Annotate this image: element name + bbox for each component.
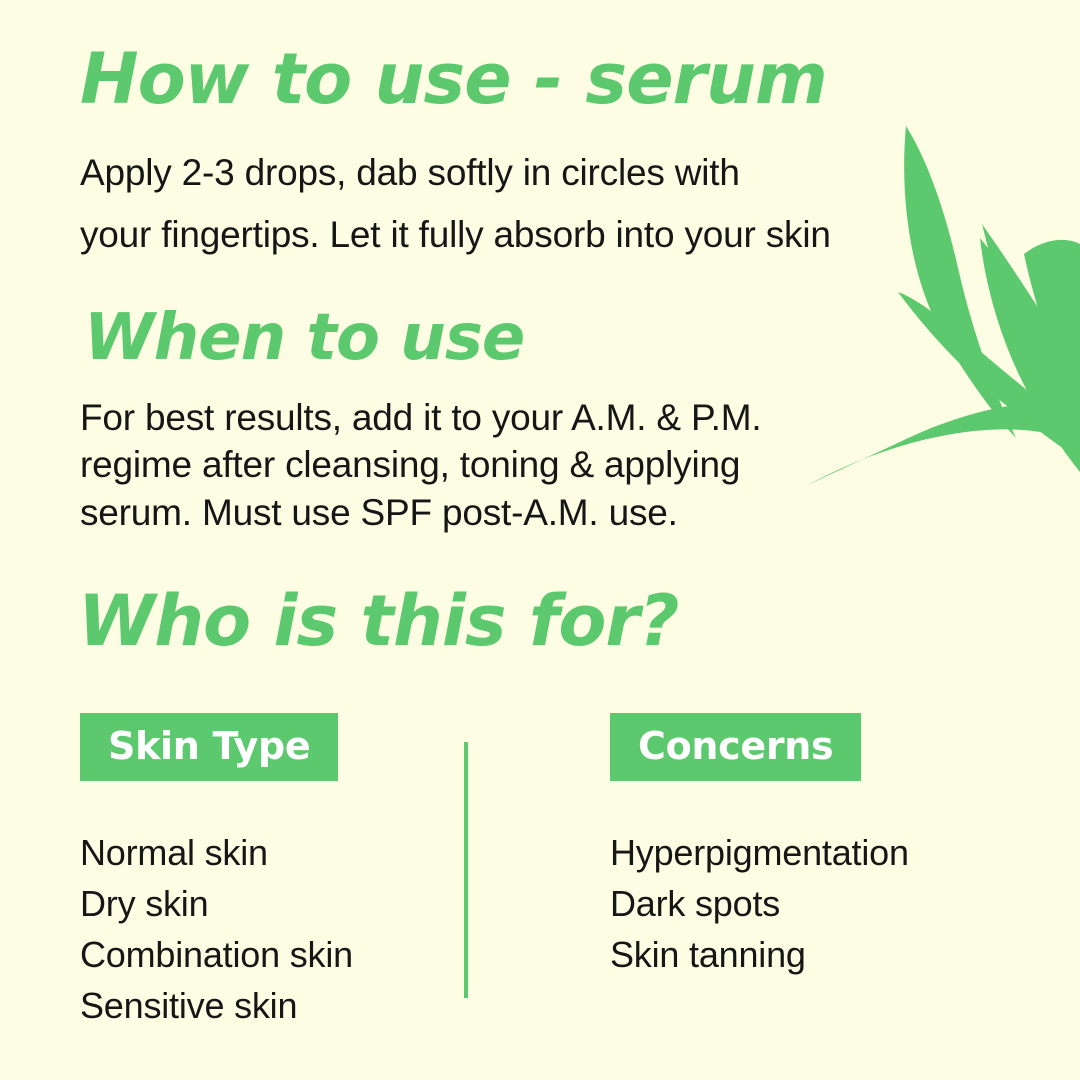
how-to-use-heading: How to use - serum [80,44,831,114]
section-who-is-this-for: Who is this for? [78,586,679,656]
list-item: Skin tanning [610,929,909,980]
skin-type-badge: Skin Type [80,713,338,781]
list-item: Sensitive skin [80,980,353,1031]
body-line: your fingertips. Let it fully absorb int… [80,204,831,266]
body-line: Apply 2-3 drops, dab softly in circles w… [80,142,831,204]
list-item: Dry skin [80,878,353,929]
audience-columns: Skin Type Normal skin Dry skin Combinati… [0,713,1080,1053]
concerns-list: Hyperpigmentation Dark spots Skin tannin… [610,827,909,980]
section-when-to-use: When to use For best results, add it to … [84,306,761,536]
list-item: Hyperpigmentation [610,827,909,878]
list-item: Normal skin [80,827,353,878]
section-how-to-use: How to use - serum Apply 2-3 drops, dab … [80,44,831,266]
concerns-badge: Concerns [610,713,861,781]
list-item: Dark spots [610,878,909,929]
when-to-use-body: For best results, add it to your A.M. & … [80,394,761,536]
body-line: serum. Must use SPF post-A.M. use. [80,489,761,536]
who-is-this-for-heading: Who is this for? [78,586,679,656]
concerns-column: Concerns Hyperpigmentation Dark spots Sk… [610,713,909,980]
skin-type-list: Normal skin Dry skin Combination skin Se… [80,827,353,1031]
when-to-use-heading: When to use [84,306,761,370]
body-line: regime after cleansing, toning & applyin… [80,441,761,488]
column-divider [464,742,468,998]
serum-usage-infographic: How to use - serum Apply 2-3 drops, dab … [0,0,1080,1080]
skin-type-column: Skin Type Normal skin Dry skin Combinati… [80,713,353,1031]
list-item: Combination skin [80,929,353,980]
body-line: For best results, add it to your A.M. & … [80,394,761,441]
how-to-use-body: Apply 2-3 drops, dab softly in circles w… [80,142,831,266]
